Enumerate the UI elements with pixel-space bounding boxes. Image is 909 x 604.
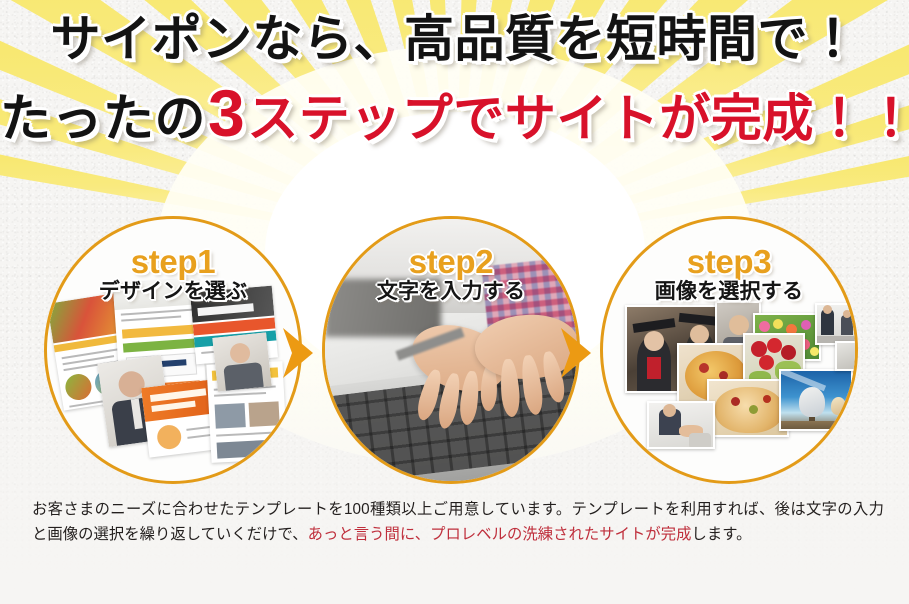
step-1-circle: step1 デザインを選ぶ bbox=[44, 216, 302, 484]
arrow-right-icon bbox=[283, 328, 313, 378]
step-card-2[interactable]: step2 文字を入力する bbox=[322, 216, 580, 484]
photo-thumbnail bbox=[647, 401, 715, 449]
steps-row: step1 デザインを選ぶ bbox=[0, 216, 909, 488]
step-2-typing-photo bbox=[325, 219, 577, 481]
arrow-right-icon bbox=[561, 328, 591, 378]
photo-thumbnail bbox=[815, 303, 855, 345]
caption-highlight: あっと言う間に、プロレベルの洗練されたサイトが完成 bbox=[308, 526, 692, 543]
banner-root: サイポンなら、高品質を短時間で！ たったの3ステップでサイトが完成！！ bbox=[0, 0, 909, 604]
step-2-circle: step2 文字を入力する bbox=[322, 216, 580, 484]
flyer-thumbnail bbox=[212, 332, 271, 391]
caption-paragraph: お客さまのニーズに合わせたテンプレートを100種類以上ご用意しています。テンプレ… bbox=[32, 498, 884, 548]
step-3-photo-mosaic bbox=[603, 219, 855, 481]
step-3-circle: step3 画像を選択する bbox=[600, 216, 858, 484]
caption-segment-3: します。 bbox=[692, 526, 752, 543]
photo-thumbnail bbox=[835, 341, 855, 371]
photo-thumbnail bbox=[779, 369, 853, 431]
step-1-flyer-collage bbox=[47, 219, 299, 481]
step-card-3[interactable]: step3 画像を選択する bbox=[600, 216, 858, 484]
step-card-1[interactable]: step1 デザインを選ぶ bbox=[44, 216, 302, 484]
photo-thumbnail bbox=[707, 379, 789, 437]
